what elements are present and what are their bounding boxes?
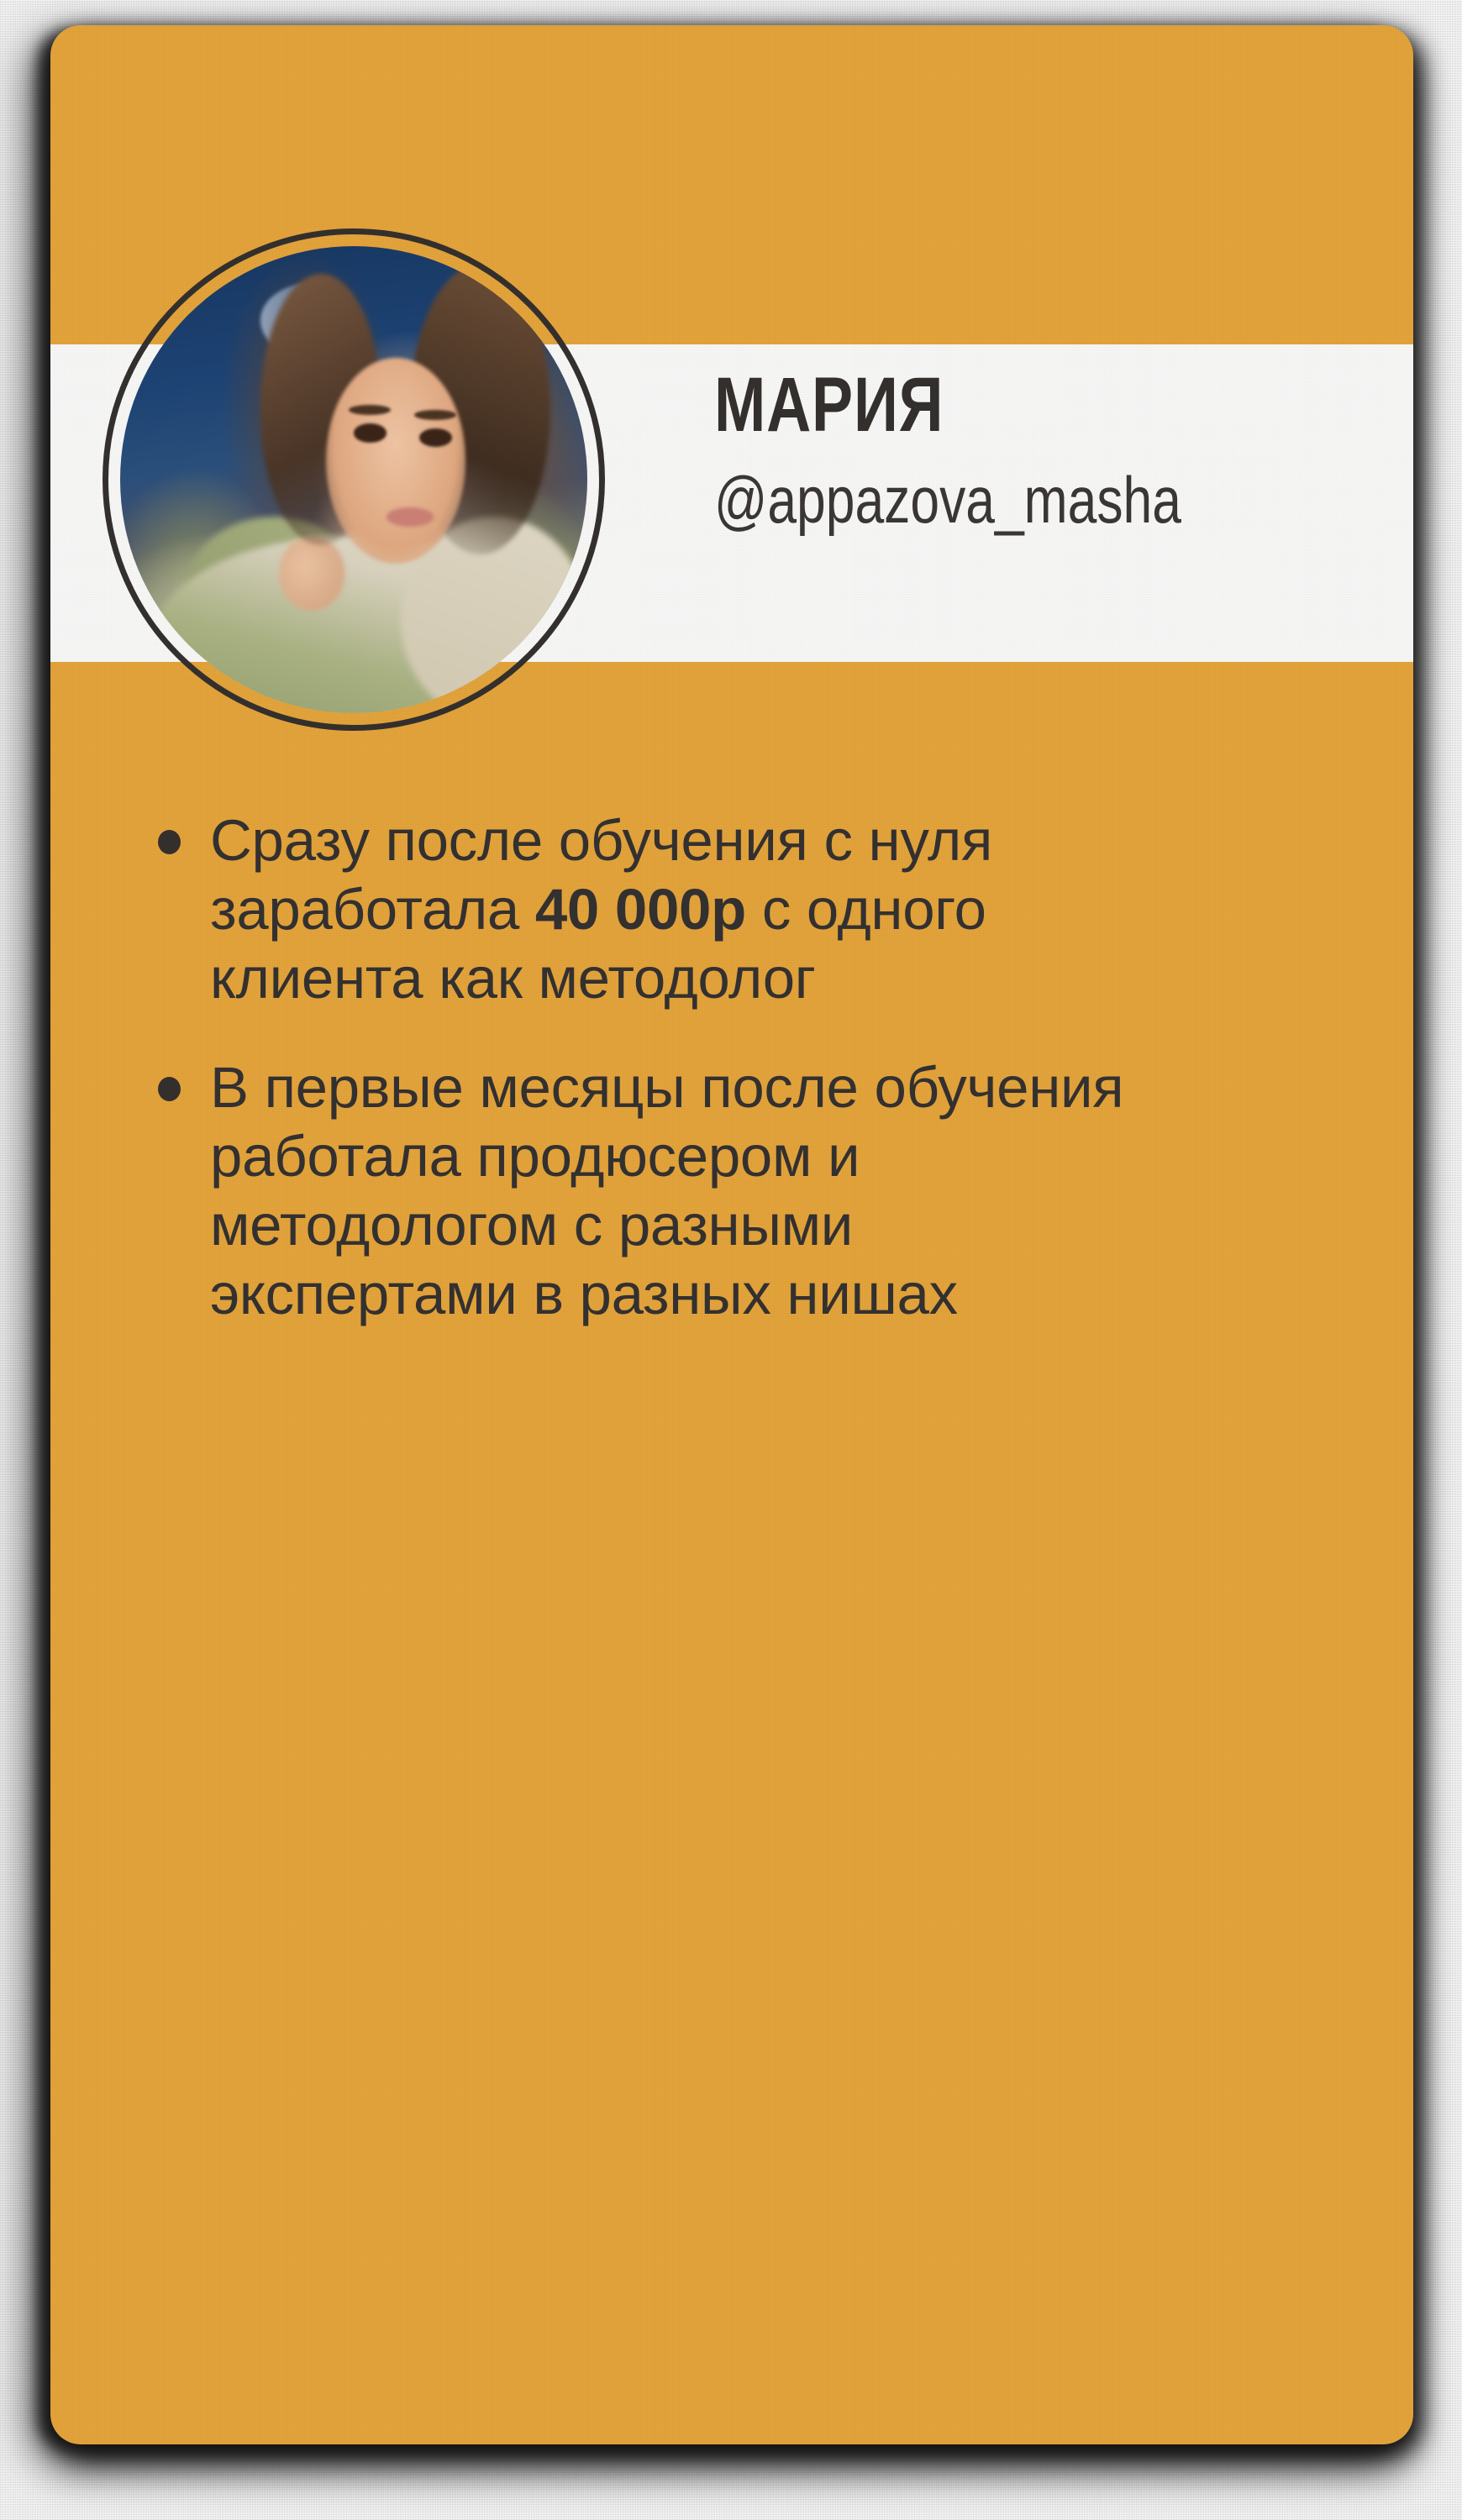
scarf-shape	[401, 517, 587, 713]
eyebrow-right-shape	[414, 410, 456, 420]
hair-right-shape	[410, 265, 550, 554]
profile-header-text: МАРИЯ @appazova_masha	[714, 361, 1386, 536]
eye-left-shape	[354, 423, 387, 442]
sky-branches-decoration	[260, 283, 363, 358]
arm-shape	[186, 517, 363, 666]
screenshot-canvas: МАРИЯ @appazova_masha	[0, 0, 1462, 2520]
achievements-list: Сразу после обучения с нуля заработала 4…	[158, 806, 1317, 1369]
profile-name: МАРИЯ	[714, 361, 1252, 449]
list-item-label: Сразу после обучения с нуля заработала 4…	[210, 806, 1050, 1013]
hair-left-shape	[260, 274, 382, 544]
avatar	[103, 228, 605, 731]
list-item: Сразу после обучения с нуля заработала 4…	[158, 806, 1317, 1013]
testimonial-card: МАРИЯ @appazova_masha	[50, 25, 1413, 2444]
profile-handle: @appazova_masha	[714, 464, 1252, 536]
eye-right-shape	[419, 428, 452, 447]
hand-shape	[279, 536, 344, 611]
list-item-label: В первые месяцы после обучения работала …	[210, 1053, 1168, 1329]
lips-shape	[387, 507, 434, 526]
bullet-dot-icon	[158, 830, 181, 854]
list-item: В первые месяцы после обучения работала …	[158, 1053, 1317, 1329]
bullet-dot-icon	[158, 1077, 181, 1101]
eyebrow-left-shape	[349, 405, 391, 415]
jacket-shape	[157, 536, 550, 713]
avatar-photo	[120, 246, 587, 713]
face-shape	[326, 358, 466, 564]
